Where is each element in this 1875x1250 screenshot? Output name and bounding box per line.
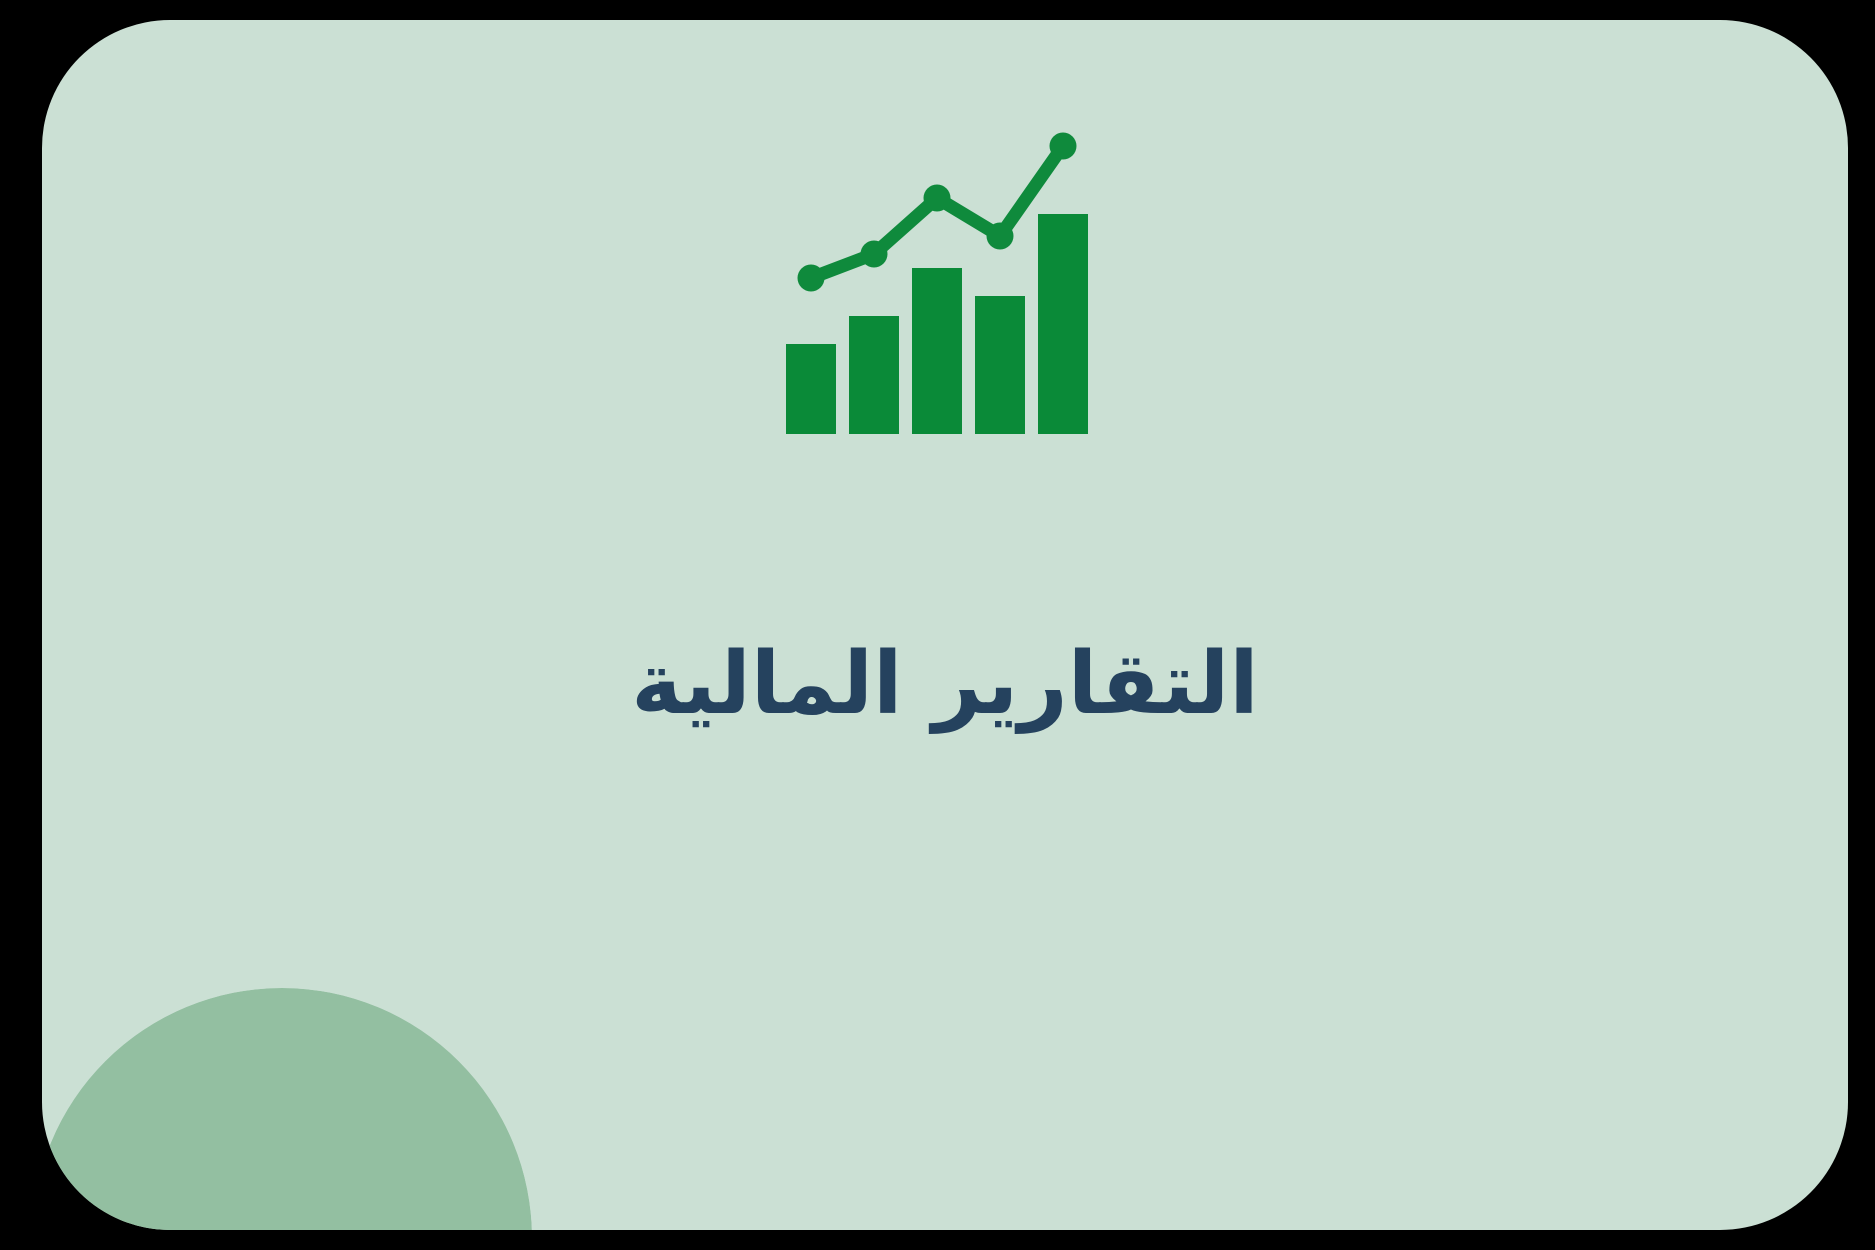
screen-canvas: التقارير المالية — [0, 0, 1875, 1250]
financial-reports-tile[interactable]: التقارير المالية — [42, 20, 1848, 1230]
pie-fan-decoration — [42, 988, 532, 1230]
tile-title: التقارير المالية — [42, 632, 1848, 737]
chart-bars — [786, 214, 1088, 434]
tile-icon-area — [42, 126, 1848, 446]
bar-chart-growth-icon — [780, 126, 1110, 446]
chart-trend-line — [798, 133, 1077, 292]
